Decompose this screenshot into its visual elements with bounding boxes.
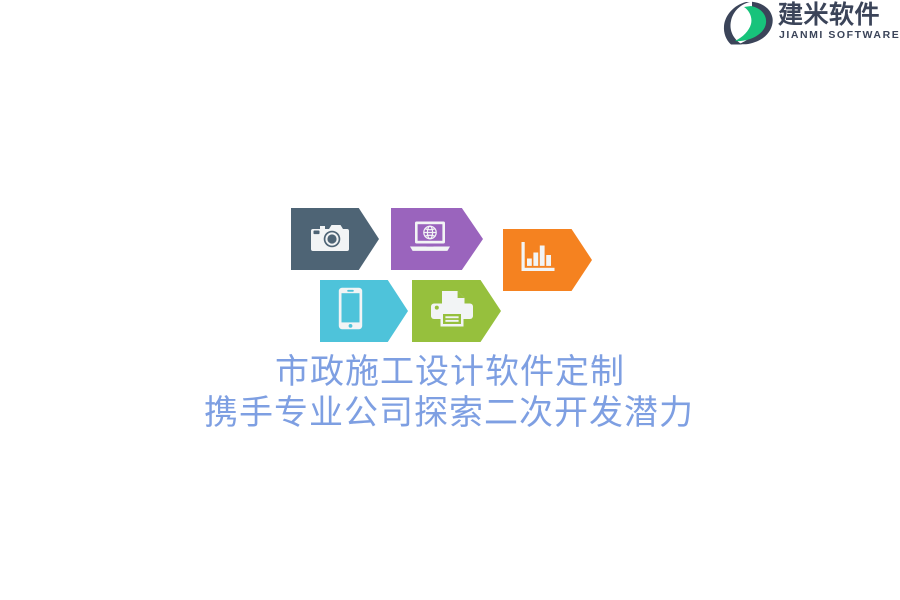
- brand-logo: 建米软件 JIANMI SOFTWARE: [722, 0, 900, 50]
- brand-subtitle: JIANMI SOFTWARE: [778, 29, 900, 42]
- arrow-shape-mobile: [320, 280, 408, 342]
- laptop-globe-icon: [409, 220, 451, 258]
- arrow-shape-printer: [412, 280, 501, 342]
- banner-canvas: 建米软件 JIANMI SOFTWARE: [0, 0, 900, 600]
- service-icon-arrow-group: [285, 200, 605, 350]
- brand-name: 建米软件: [778, 1, 900, 29]
- hexagon-leaf-logo-icon: [722, 0, 774, 46]
- smartphone-icon: [338, 287, 363, 335]
- arrow-shape-laptop: [391, 208, 483, 270]
- printer-icon: [430, 290, 474, 333]
- headline: 市政施工设计软件定制 携手专业公司探索二次开发潜力: [0, 352, 900, 434]
- arrow-shape-chart: [503, 229, 592, 291]
- headline-line-1: 市政施工设计软件定制: [0, 352, 900, 393]
- headline-line-2: 携手专业公司探索二次开发潜力: [0, 393, 900, 434]
- bar-chart-icon: [521, 241, 559, 280]
- camera-icon: [309, 221, 349, 258]
- brand-text-block: 建米软件 JIANMI SOFTWARE: [774, 0, 900, 42]
- arrow-shape-camera: [291, 208, 379, 270]
